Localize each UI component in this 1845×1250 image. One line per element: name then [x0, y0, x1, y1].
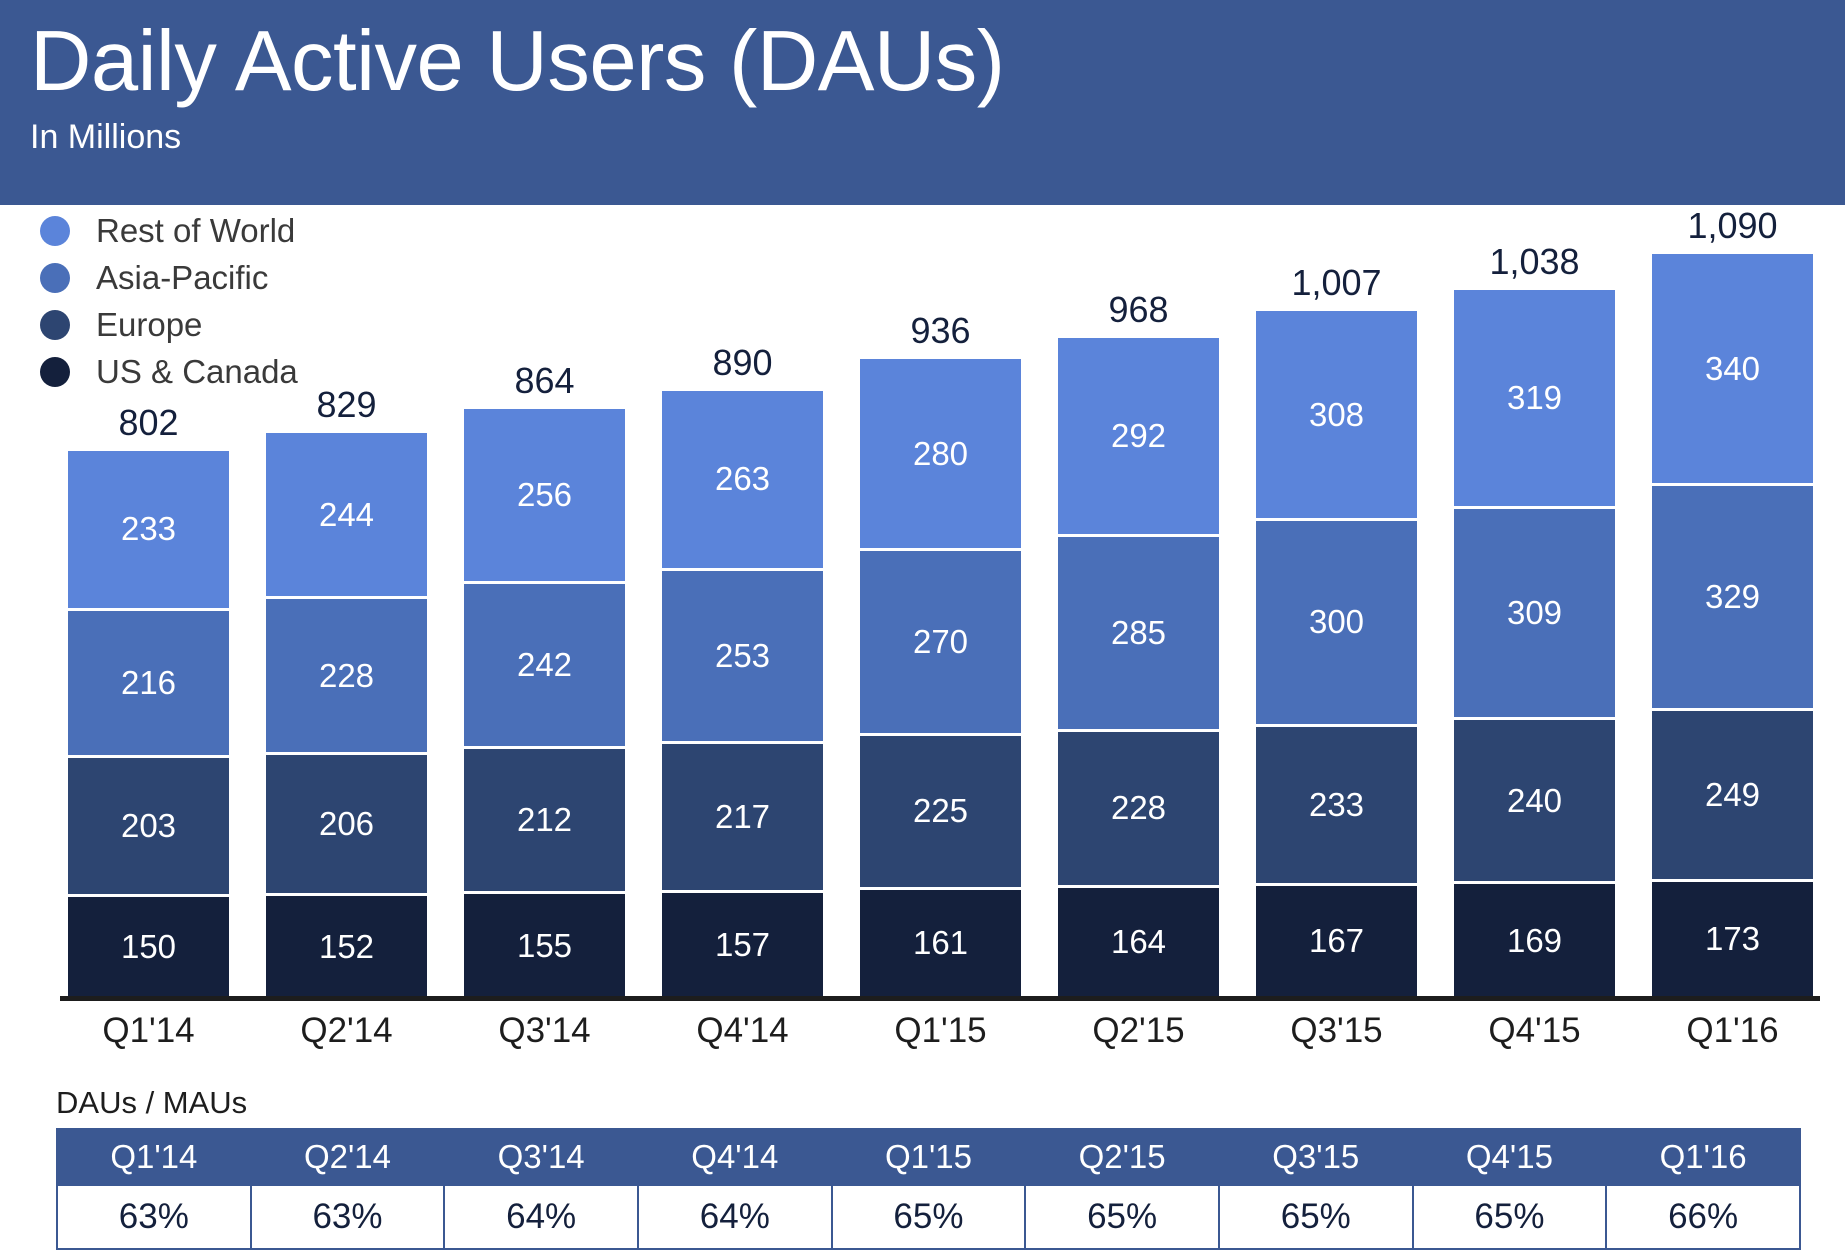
bar-segment[interactable]: 157: [662, 890, 823, 997]
table-cell-ratio: 63%: [57, 1185, 251, 1249]
x-axis-tick-label: Q4'15: [1454, 1011, 1615, 1051]
x-axis-tick-label: Q4'14: [662, 1011, 823, 1051]
x-axis-tick-label: Q1'16: [1652, 1011, 1813, 1051]
page-title: Daily Active Users (DAUs): [30, 14, 1845, 110]
legend-swatch-icon: [40, 310, 70, 340]
table-header-cell: Q2'14: [251, 1129, 445, 1185]
bar-total-label: 890: [632, 342, 853, 384]
bar-segment[interactable]: 203: [68, 755, 229, 894]
bar-segment[interactable]: 249: [1652, 708, 1813, 878]
bar-segment[interactable]: 216: [68, 608, 229, 756]
bar-segment[interactable]: 244: [266, 430, 427, 597]
bar-group[interactable]: 968292285228164: [1058, 335, 1219, 998]
bar-total-label: 1,038: [1424, 241, 1645, 283]
legend-swatch-icon: [40, 357, 70, 387]
legend-swatch-icon: [40, 263, 70, 293]
table-header-cell: Q4'15: [1413, 1129, 1607, 1185]
table-header-cell: Q3'14: [444, 1129, 638, 1185]
bar-segment[interactable]: 285: [1058, 534, 1219, 729]
dau-mau-table: Q1'14Q2'14Q3'14Q4'14Q1'15Q2'15Q3'15Q4'15…: [56, 1128, 1801, 1250]
table-cell-ratio: 64%: [444, 1185, 638, 1249]
bar-group[interactable]: 829244228206152: [266, 430, 427, 997]
table-header-row: Q1'14Q2'14Q3'14Q4'14Q1'15Q2'15Q3'15Q4'15…: [57, 1129, 1800, 1185]
bar-total-label: 968: [1028, 289, 1249, 331]
bar-segment[interactable]: 173: [1652, 879, 1813, 997]
header-band: Daily Active Users (DAUs) In Millions: [0, 0, 1845, 205]
bar-total-label: 1,007: [1226, 262, 1447, 304]
bar-group[interactable]: 1,038319309240169: [1454, 287, 1615, 997]
bar-total-label: 864: [434, 360, 655, 402]
bar-group[interactable]: 1,090340329249173: [1652, 251, 1813, 997]
bar-segment[interactable]: 292: [1058, 335, 1219, 535]
x-axis-line: [60, 996, 1820, 1001]
bar-segment[interactable]: 152: [266, 893, 427, 997]
bar-group[interactable]: 864256242212155: [464, 406, 625, 997]
bar-segment[interactable]: 280: [860, 356, 1021, 548]
bar-segment[interactable]: 263: [662, 388, 823, 568]
bar-segment[interactable]: 242: [464, 581, 625, 746]
bar-segment[interactable]: 206: [266, 752, 427, 893]
bar-segment[interactable]: 169: [1454, 881, 1615, 997]
table-cell-ratio: 65%: [1413, 1185, 1607, 1249]
bar-segment[interactable]: 150: [68, 894, 229, 997]
bar-total-label: 829: [236, 384, 457, 426]
bar-segment[interactable]: 256: [464, 406, 625, 581]
bar-segment[interactable]: 228: [1058, 729, 1219, 885]
table-header-cell: Q3'15: [1219, 1129, 1413, 1185]
bar-segment[interactable]: 161: [860, 887, 1021, 997]
table-row: 63%63%64%64%65%65%65%65%66%: [57, 1185, 1800, 1249]
bar-group[interactable]: 802233216203150: [68, 448, 229, 997]
bar-segment[interactable]: 308: [1256, 308, 1417, 519]
bar-segment[interactable]: 309: [1454, 506, 1615, 717]
stacked-bar-plot: 8022332162031508292442282061528642562422…: [68, 205, 1813, 997]
table-cell-ratio: 65%: [832, 1185, 1026, 1249]
bar-segment[interactable]: 167: [1256, 883, 1417, 997]
bar-segment[interactable]: 253: [662, 568, 823, 741]
bar-groups: 8022332162031508292442282061528642562422…: [68, 205, 1813, 997]
dau-mau-caption: DAUs / MAUs: [56, 1085, 1801, 1121]
bar-total-label: 1,090: [1622, 205, 1843, 247]
bar-segment[interactable]: 240: [1454, 717, 1615, 881]
table-header-cell: Q1'16: [1606, 1129, 1800, 1185]
bar-segment[interactable]: 228: [266, 596, 427, 752]
bar-segment[interactable]: 233: [68, 448, 229, 607]
bar-total-label: 802: [38, 402, 259, 444]
table-cell-ratio: 65%: [1025, 1185, 1219, 1249]
x-axis-tick-label: Q3'15: [1256, 1011, 1417, 1051]
bar-segment[interactable]: 270: [860, 548, 1021, 733]
x-axis-tick-label: Q2'14: [266, 1011, 427, 1051]
table-cell-ratio: 64%: [638, 1185, 832, 1249]
bar-segment[interactable]: 340: [1652, 251, 1813, 483]
page-subtitle: In Millions: [30, 116, 1845, 158]
bar-group[interactable]: 936280270225161: [860, 356, 1021, 997]
bar-segment[interactable]: 319: [1454, 287, 1615, 505]
x-axis-tick-label: Q1'14: [68, 1011, 229, 1051]
bar-group[interactable]: 890263253217157: [662, 388, 823, 997]
chart-area: Rest of WorldAsia-PacificEuropeUS & Cana…: [0, 205, 1845, 1230]
table-header-cell: Q4'14: [638, 1129, 832, 1185]
bar-total-label: 936: [830, 310, 1051, 352]
table-cell-ratio: 65%: [1219, 1185, 1413, 1249]
bar-segment[interactable]: 329: [1652, 483, 1813, 708]
table-header-cell: Q1'15: [832, 1129, 1026, 1185]
table-header-cell: Q2'15: [1025, 1129, 1219, 1185]
bar-segment[interactable]: 155: [464, 891, 625, 997]
bar-group[interactable]: 1,007308300233167: [1256, 308, 1417, 997]
table-cell-ratio: 63%: [251, 1185, 445, 1249]
bar-segment[interactable]: 212: [464, 746, 625, 891]
x-axis-labels: Q1'14Q2'14Q3'14Q4'14Q1'15Q2'15Q3'15Q4'15…: [68, 1011, 1813, 1051]
legend-swatch-icon: [40, 216, 70, 246]
dau-mau-block: DAUs / MAUs Q1'14Q2'14Q3'14Q4'14Q1'15Q2'…: [56, 1085, 1801, 1250]
bar-segment[interactable]: 225: [860, 733, 1021, 887]
table-cell-ratio: 66%: [1606, 1185, 1800, 1249]
bar-segment[interactable]: 300: [1256, 518, 1417, 723]
x-axis-tick-label: Q1'15: [860, 1011, 1021, 1051]
bar-segment[interactable]: 217: [662, 741, 823, 890]
bar-segment[interactable]: 164: [1058, 885, 1219, 997]
x-axis-tick-label: Q3'14: [464, 1011, 625, 1051]
x-axis-tick-label: Q2'15: [1058, 1011, 1219, 1051]
bar-segment[interactable]: 233: [1256, 724, 1417, 883]
table-header-cell: Q1'14: [57, 1129, 251, 1185]
